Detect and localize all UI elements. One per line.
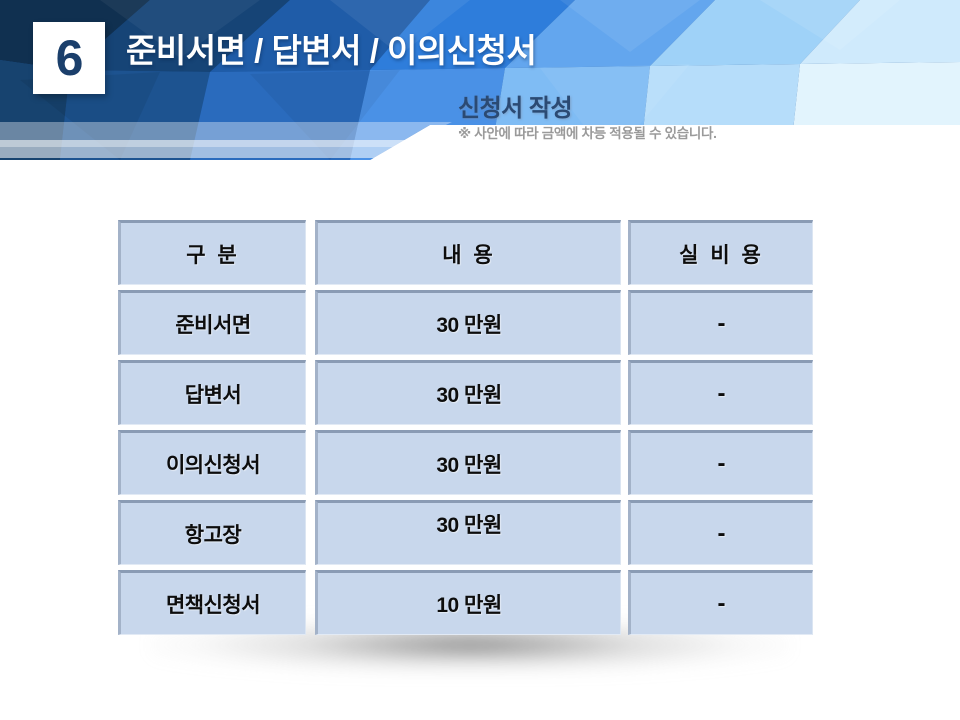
- cell-actual-cost-text: -: [718, 520, 726, 548]
- cell-category: 답변서: [118, 360, 306, 425]
- table-header-row: 구 분내 용실 비 용: [0, 220, 960, 285]
- column-header-content-text: 내 용: [442, 239, 495, 269]
- cell-amount-text: 30 만원: [436, 309, 501, 339]
- cell-amount: 30 만원: [315, 360, 621, 425]
- cell-amount: 30 만원: [315, 290, 621, 355]
- cell-category: 면책신청서: [118, 570, 306, 635]
- cell-actual-cost-text: -: [718, 310, 726, 338]
- cell-category: 항고장: [118, 500, 306, 565]
- cell-category: 이의신청서: [118, 430, 306, 495]
- section-number-badge: 6: [33, 22, 105, 94]
- column-header-category: 구 분: [118, 220, 306, 285]
- cell-category-text: 면책신청서: [166, 589, 260, 619]
- table-row: 이의신청서30 만원-: [0, 430, 960, 495]
- cell-actual-cost-text: -: [718, 590, 726, 618]
- cell-amount-text: 30 만원: [436, 509, 501, 539]
- cell-amount-text: 30 만원: [436, 449, 501, 479]
- cell-amount: 30 만원: [315, 430, 621, 495]
- cell-amount-text: 30 만원: [436, 379, 501, 409]
- section-number: 6: [56, 33, 83, 83]
- column-header-actual-cost-text: 실 비 용: [679, 239, 764, 269]
- page-header: 6 준비서면 / 답변서 / 이의신청서 신청서 작성 ※ 사안에 따라 금액에…: [0, 0, 960, 160]
- cell-amount-text: 10 만원: [436, 589, 501, 619]
- column-header-category-text: 구 분: [186, 239, 239, 269]
- column-header-content: 내 용: [315, 220, 621, 285]
- cell-category-text: 답변서: [185, 379, 241, 409]
- cell-actual-cost: -: [628, 430, 813, 495]
- cell-category-text: 항고장: [185, 519, 241, 549]
- table-row: 면책신청서10 만원-: [0, 570, 960, 635]
- cell-actual-cost-text: -: [718, 450, 726, 478]
- cell-category: 준비서면: [118, 290, 306, 355]
- page-title: 준비서면 / 답변서 / 이의신청서: [126, 24, 536, 72]
- cell-amount: 10 만원: [315, 570, 621, 635]
- cell-category-text: 준비서면: [175, 309, 250, 339]
- cell-actual-cost: -: [628, 500, 813, 565]
- cell-actual-cost: -: [628, 360, 813, 425]
- cell-actual-cost: -: [628, 570, 813, 635]
- table-row: 항고장30 만원-: [0, 500, 960, 565]
- section-note: ※ 사안에 따라 금액에 차등 적용될 수 있습니다.: [458, 122, 717, 142]
- cell-actual-cost: -: [628, 290, 813, 355]
- cell-actual-cost-text: -: [718, 380, 726, 408]
- cell-category-text: 이의신청서: [166, 449, 260, 479]
- cell-amount: 30 만원: [315, 500, 621, 565]
- column-header-actual-cost: 실 비 용: [628, 220, 813, 285]
- table-row: 답변서30 만원-: [0, 360, 960, 425]
- table-row: 준비서면30 만원-: [0, 290, 960, 355]
- section-subtitle: 신청서 작성: [458, 88, 572, 123]
